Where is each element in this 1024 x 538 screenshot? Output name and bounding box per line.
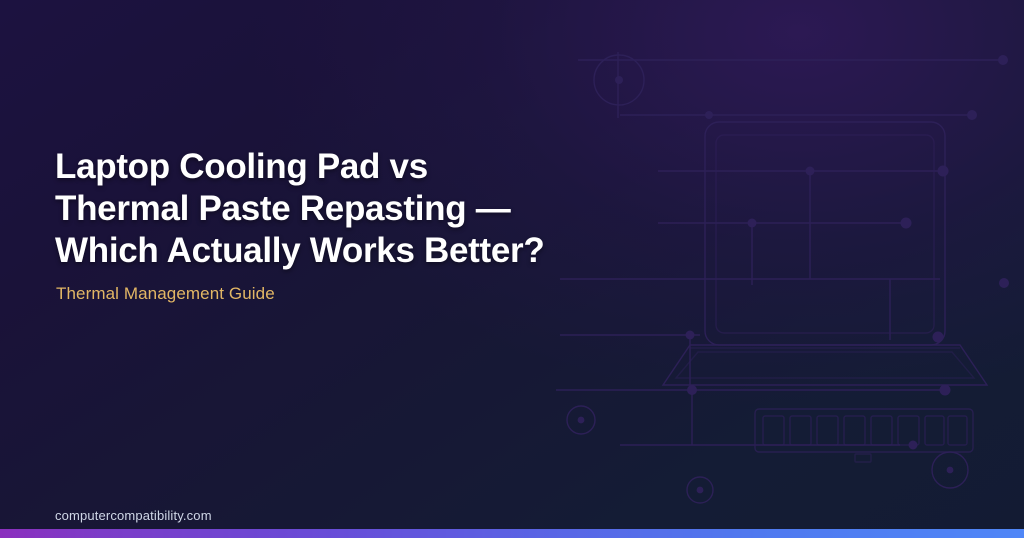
page-title-line-1: Laptop Cooling Pad vs [55,146,615,188]
laptop-inner-screen [716,135,934,333]
keyboard-row [755,409,973,452]
accent-bar [0,529,1024,538]
page-subtitle: Thermal Management Guide [56,283,275,305]
target-circles [567,55,968,503]
site-url: computercompatibility.com [55,508,212,524]
trackpad-notch [855,454,871,462]
keyboard-keys [763,416,967,445]
circuit-verticals [690,171,890,445]
page-title: Laptop Cooling Pad vs Thermal Paste Repa… [55,146,615,272]
page-title-line-2: Thermal Paste Repasting — [55,188,615,230]
article-hero-banner: Laptop Cooling Pad vs Thermal Paste Repa… [0,0,1024,538]
node-dots [578,55,1009,493]
laptop-base-inner [676,352,974,378]
circuit-traces [556,52,1006,445]
page-title-line-3: Which Actually Works Better? [55,230,615,272]
laptop-base-trapezoid [663,345,987,385]
hero-content: Laptop Cooling Pad vs Thermal Paste Repa… [55,0,615,538]
laptop-screen-outline [705,122,945,345]
